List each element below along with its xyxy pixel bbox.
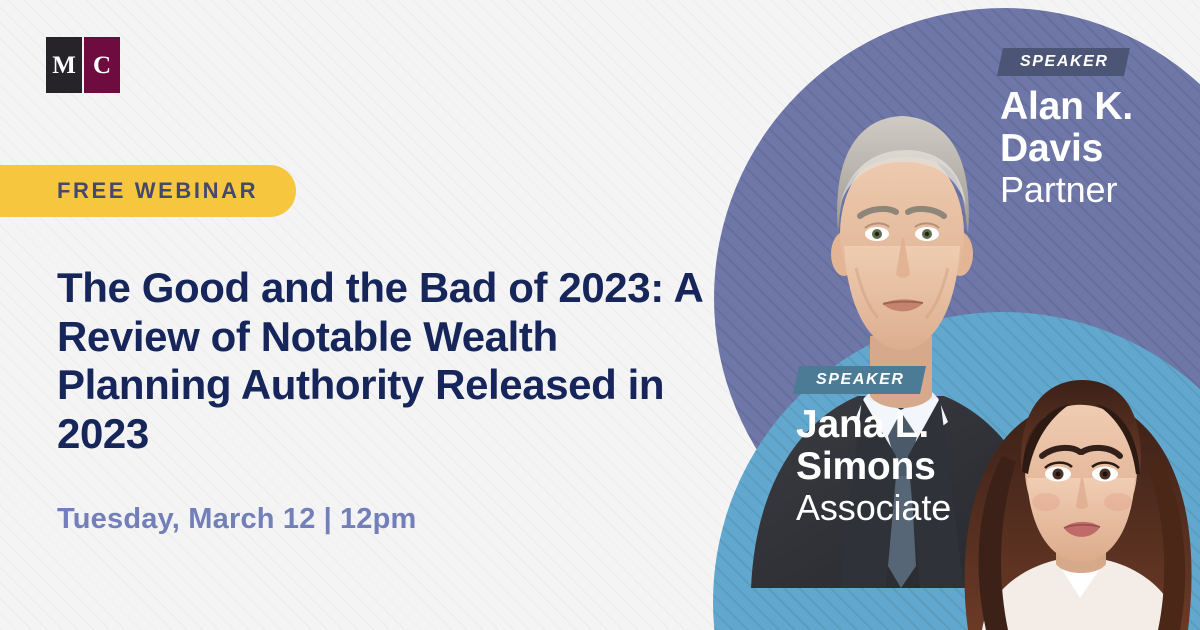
- webinar-promo-banner: M C FREE WEBINAR The Good and the Bad of…: [0, 0, 1200, 630]
- free-webinar-label: FREE WEBINAR: [57, 178, 258, 204]
- brand-logo[interactable]: M C: [46, 37, 120, 93]
- speaker-photo-jana-simons: [930, 352, 1200, 630]
- speaker-name-line-2: Simons: [796, 446, 951, 488]
- free-webinar-badge: FREE WEBINAR: [0, 165, 296, 217]
- webinar-date: Tuesday, March 12: [57, 503, 316, 535]
- logo-letter-c: C: [84, 37, 120, 93]
- logo-letter-m: M: [46, 37, 82, 93]
- webinar-time: 12pm: [340, 503, 417, 535]
- datetime-separator: |: [316, 503, 340, 535]
- speaker-tag-label: SPEAKER: [816, 371, 905, 389]
- speaker-name: Jana L. Simons: [796, 404, 951, 488]
- webinar-datetime: Tuesday, March 12|12pm: [57, 503, 417, 536]
- speaker-role: Associate: [796, 488, 951, 528]
- speaker-tag: SPEAKER: [793, 366, 926, 394]
- speaker-info-alan-davis: SPEAKER Alan K. Davis Partner: [1000, 48, 1133, 211]
- speaker-name: Alan K. Davis: [1000, 86, 1133, 170]
- speaker-tag-label: SPEAKER: [1020, 53, 1109, 71]
- speaker-role: Partner: [1000, 170, 1133, 210]
- speaker-tag: SPEAKER: [997, 48, 1130, 76]
- speaker-name-line-1: Alan K.: [1000, 86, 1133, 128]
- webinar-title: The Good and the Bad of 2023: A Review o…: [57, 264, 717, 459]
- speaker-name-line-1: Jana L.: [796, 404, 951, 446]
- speaker-info-jana-simons: SPEAKER Jana L. Simons Associate: [796, 366, 951, 529]
- speaker-name-line-2: Davis: [1000, 128, 1133, 170]
